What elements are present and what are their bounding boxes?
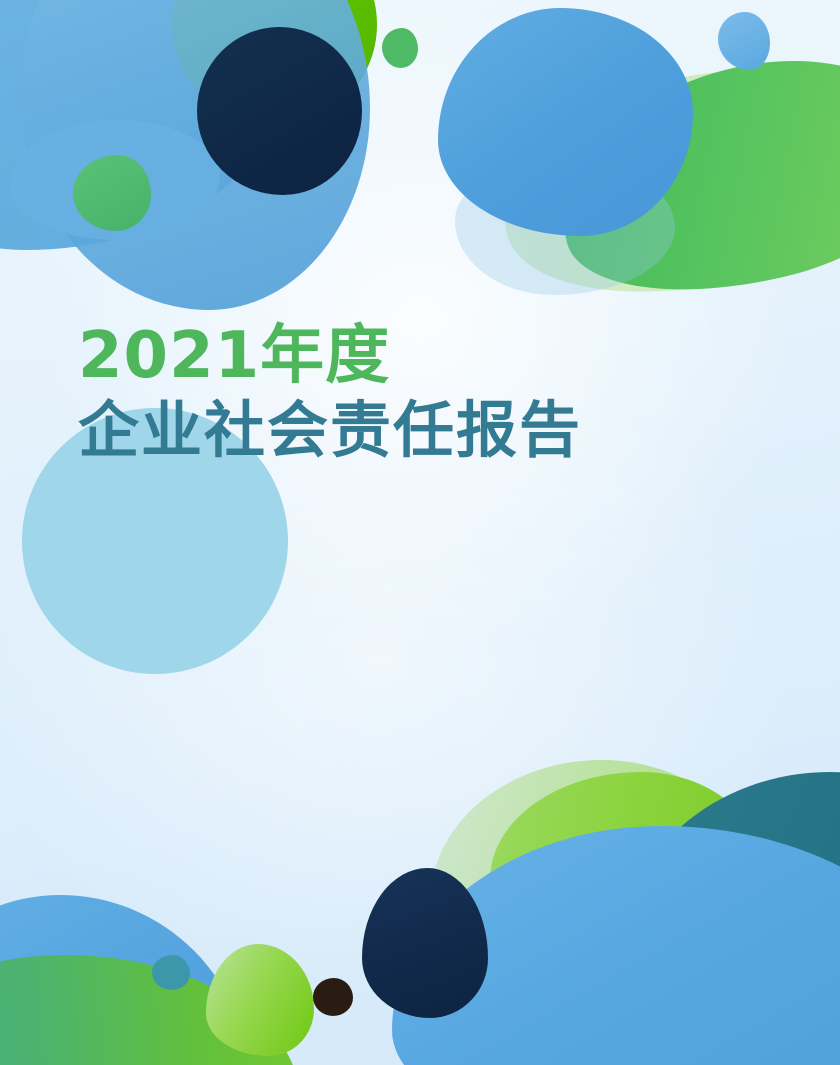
bottom-left-green-blob xyxy=(0,955,300,1065)
top-right-blue-pale-tail xyxy=(455,160,675,295)
background-wash xyxy=(0,0,840,1065)
top-left-navy-circle xyxy=(197,27,362,195)
top-left-blue-lower-blob xyxy=(10,120,220,240)
bottom-teal-dot xyxy=(152,955,190,990)
bottom-left-blue-blob xyxy=(0,895,250,1065)
page-title-year: 2021年度 xyxy=(78,322,582,391)
page-title-main: 企业社会责任报告 xyxy=(78,395,582,467)
top-green-dot-small xyxy=(382,28,418,68)
top-left-pale-green-shape xyxy=(0,150,90,242)
cover-title-block: 2021年度 企业社会责任报告 xyxy=(78,322,582,467)
bottom-right-blue-pale-blob xyxy=(430,960,840,1065)
top-left-green-ellipse xyxy=(73,155,151,231)
bottom-right-blue-large-blob xyxy=(392,826,840,1065)
top-left-green-crescent xyxy=(172,0,377,127)
bottom-navy-egg xyxy=(362,868,488,1018)
bottom-right-green-blob xyxy=(490,772,765,922)
top-left-blue-mid-blob xyxy=(20,0,370,310)
top-right-green-large-ellipse xyxy=(536,25,840,326)
bottom-right-green-pale-blob xyxy=(430,760,760,970)
top-right-blue-blob xyxy=(438,8,693,236)
bottom-brown-dot xyxy=(313,978,353,1016)
report-cover-page: 2021年度 企业社会责任报告 xyxy=(0,0,840,1065)
bottom-left-green-pale-blob xyxy=(0,928,240,1065)
bottom-lime-triangle-blob xyxy=(206,944,314,1056)
top-right-green-pale-ellipse xyxy=(483,37,840,326)
bottom-right-teal-dark-arc xyxy=(620,772,840,1052)
top-left-blue-large-blob xyxy=(0,0,290,250)
top-right-blue-small-blob xyxy=(718,12,770,70)
